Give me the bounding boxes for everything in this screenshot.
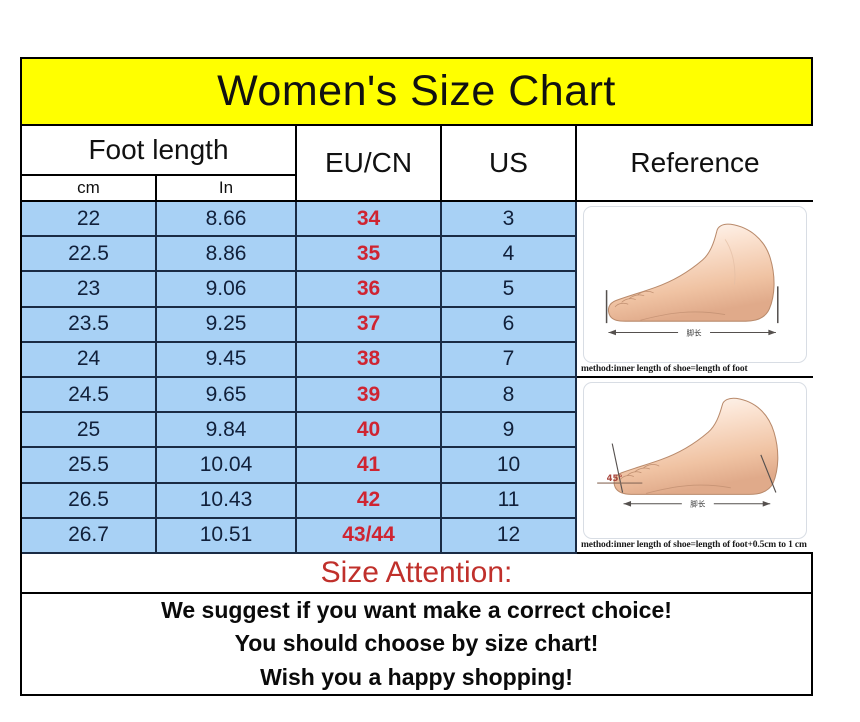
cell-eu-0: 34	[297, 202, 442, 237]
cell-us-6: 9	[442, 413, 577, 448]
size-attention-body: We suggest if you want make a correct ch…	[22, 594, 811, 694]
angle-label: 45°	[607, 473, 623, 483]
cell-cm-8: 26.5	[22, 484, 157, 519]
cell-cm-2: 23	[22, 272, 157, 307]
attention-line-1: You should choose by size chart!	[235, 628, 599, 659]
header-eu-cn: EU/CN	[297, 126, 442, 202]
foot-measure-diagram-1: 脚长	[583, 206, 807, 363]
cell-in-4: 9.45	[157, 343, 297, 378]
cell-us-0: 3	[442, 202, 577, 237]
cell-in-6: 9.84	[157, 413, 297, 448]
cell-in-1: 8.86	[157, 237, 297, 272]
size-attention-heading-row: Size Attention:	[22, 554, 811, 594]
header-us: US	[442, 126, 577, 202]
cell-in-5: 9.65	[157, 378, 297, 413]
reference-caption-1: method:inner length of shoe=length of fo…	[577, 363, 813, 376]
cell-us-1: 4	[442, 237, 577, 272]
cell-cm-1: 22.5	[22, 237, 157, 272]
header-in: In	[157, 176, 297, 202]
cell-us-7: 10	[442, 448, 577, 483]
cell-cm-9: 26.7	[22, 519, 157, 554]
cell-us-4: 7	[442, 343, 577, 378]
cell-us-2: 5	[442, 272, 577, 307]
page-title: Women's Size Chart	[217, 67, 616, 116]
cell-cm-4: 24	[22, 343, 157, 378]
cell-us-9: 12	[442, 519, 577, 554]
cell-us-5: 8	[442, 378, 577, 413]
cell-eu-5: 39	[297, 378, 442, 413]
foot-illustration-2: 45° 脚长	[584, 383, 806, 538]
cell-eu-2: 36	[297, 272, 442, 307]
size-table: Foot length cm In EU/CN US Reference 228…	[22, 126, 811, 554]
cell-eu-4: 38	[297, 343, 442, 378]
measure-label-2: 脚长	[690, 499, 706, 509]
cell-in-3: 9.25	[157, 308, 297, 343]
cell-eu-7: 41	[297, 448, 442, 483]
reference-caption-2: method:inner length of shoe=length of fo…	[577, 539, 813, 552]
cell-cm-6: 25	[22, 413, 157, 448]
cell-us-3: 6	[442, 308, 577, 343]
cell-eu-6: 40	[297, 413, 442, 448]
cell-in-8: 10.43	[157, 484, 297, 519]
measure-label-1: 脚长	[687, 327, 703, 337]
size-attention-heading: Size Attention:	[321, 556, 513, 590]
cell-eu-8: 42	[297, 484, 442, 519]
attention-line-2: Wish you a happy shopping!	[260, 662, 573, 693]
cell-cm-5: 24.5	[22, 378, 157, 413]
cell-us-8: 11	[442, 484, 577, 519]
cell-in-2: 9.06	[157, 272, 297, 307]
size-chart: Women's Size Chart Foot length cm In EU/…	[20, 57, 813, 696]
foot-measure-diagram-2: 45° 脚长	[583, 382, 807, 539]
foot-illustration-1: 脚长	[584, 207, 806, 362]
cell-eu-3: 37	[297, 308, 442, 343]
attention-line-0: We suggest if you want make a correct ch…	[161, 595, 672, 626]
reference-cell-2: 45° 脚长 method:inner length of shoe=lengt…	[577, 378, 813, 554]
cell-in-9: 10.51	[157, 519, 297, 554]
cell-in-0: 8.66	[157, 202, 297, 237]
chart-title-banner: Women's Size Chart	[22, 59, 811, 126]
header-cm: cm	[22, 176, 157, 202]
header-reference: Reference	[577, 126, 813, 202]
reference-cell-1: 脚长 method:inner length of shoe=length of…	[577, 202, 813, 378]
header-foot-length: Foot length	[22, 126, 297, 176]
cell-eu-9: 43/44	[297, 519, 442, 554]
cell-in-7: 10.04	[157, 448, 297, 483]
cell-cm-3: 23.5	[22, 308, 157, 343]
cell-eu-1: 35	[297, 237, 442, 272]
cell-cm-7: 25.5	[22, 448, 157, 483]
cell-cm-0: 22	[22, 202, 157, 237]
